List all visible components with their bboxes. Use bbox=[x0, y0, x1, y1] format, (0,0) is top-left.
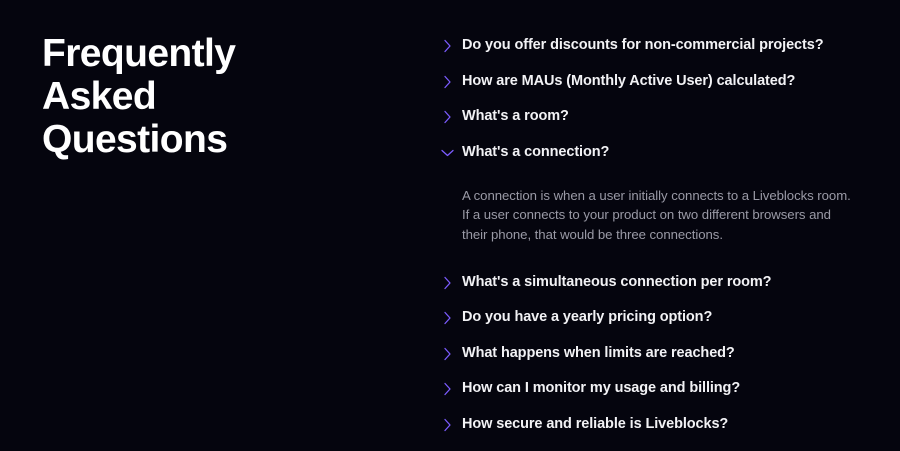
faq-question-label: How can I monitor my usage and billing? bbox=[462, 379, 740, 397]
faq-question-label: How secure and reliable is Liveblocks? bbox=[462, 415, 728, 433]
faq-question-label: Do you offer discounts for non-commercia… bbox=[462, 36, 823, 54]
faq-question-toggle[interactable]: What's a room? bbox=[443, 107, 859, 143]
faq-question-label: How are MAUs (Monthly Active User) calcu… bbox=[462, 72, 795, 90]
faq-item: Do you have a yearly pricing option? bbox=[443, 308, 859, 344]
faq-item: What happens when limits are reached? bbox=[443, 344, 859, 380]
chevron-right-icon bbox=[443, 110, 452, 124]
faq-question-toggle[interactable]: What's a connection? bbox=[443, 143, 859, 179]
chevron-right-icon bbox=[443, 75, 452, 89]
chevron-right-icon bbox=[443, 311, 452, 325]
chevron-right-icon bbox=[443, 276, 452, 290]
faq-heading-column: Frequently Asked Questions bbox=[42, 32, 372, 161]
faq-question-toggle[interactable]: How are MAUs (Monthly Active User) calcu… bbox=[443, 72, 859, 108]
faq-question-toggle[interactable]: Do you offer discounts for non-commercia… bbox=[443, 36, 859, 72]
faq-question-toggle[interactable]: Do you have a yearly pricing option? bbox=[443, 308, 859, 344]
faq-question-label: What's a connection? bbox=[462, 143, 609, 161]
faq-question-label: What's a room? bbox=[462, 107, 569, 125]
chevron-right-icon bbox=[443, 39, 452, 53]
faq-question-label: What's a simultaneous connection per roo… bbox=[462, 273, 771, 291]
faq-question-label: Do you have a yearly pricing option? bbox=[462, 308, 712, 326]
faq-accordion: Do you offer discounts for non-commercia… bbox=[443, 36, 859, 450]
faq-question-label: What happens when limits are reached? bbox=[462, 344, 735, 362]
faq-item: How can I monitor my usage and billing? bbox=[443, 379, 859, 415]
chevron-right-icon bbox=[443, 347, 452, 361]
chevron-down-icon bbox=[443, 146, 452, 160]
faq-item: What's a connection?A connection is when… bbox=[443, 143, 859, 273]
faq-section: Frequently Asked Questions Do you offer … bbox=[0, 0, 900, 451]
faq-item: Do you offer discounts for non-commercia… bbox=[443, 36, 859, 72]
faq-question-toggle[interactable]: How secure and reliable is Liveblocks? bbox=[443, 415, 859, 451]
faq-question-toggle[interactable]: How can I monitor my usage and billing? bbox=[443, 379, 859, 415]
faq-question-toggle[interactable]: What's a simultaneous connection per roo… bbox=[443, 273, 859, 309]
faq-answer: A connection is when a user initially co… bbox=[462, 186, 859, 244]
faq-item: How secure and reliable is Liveblocks? bbox=[443, 415, 859, 451]
chevron-right-icon bbox=[443, 382, 452, 396]
faq-item: How are MAUs (Monthly Active User) calcu… bbox=[443, 72, 859, 108]
faq-item: What's a simultaneous connection per roo… bbox=[443, 273, 859, 309]
faq-item: What's a room? bbox=[443, 107, 859, 143]
chevron-right-icon bbox=[443, 418, 452, 432]
faq-question-toggle[interactable]: What happens when limits are reached? bbox=[443, 344, 859, 380]
page-title: Frequently Asked Questions bbox=[42, 32, 372, 161]
